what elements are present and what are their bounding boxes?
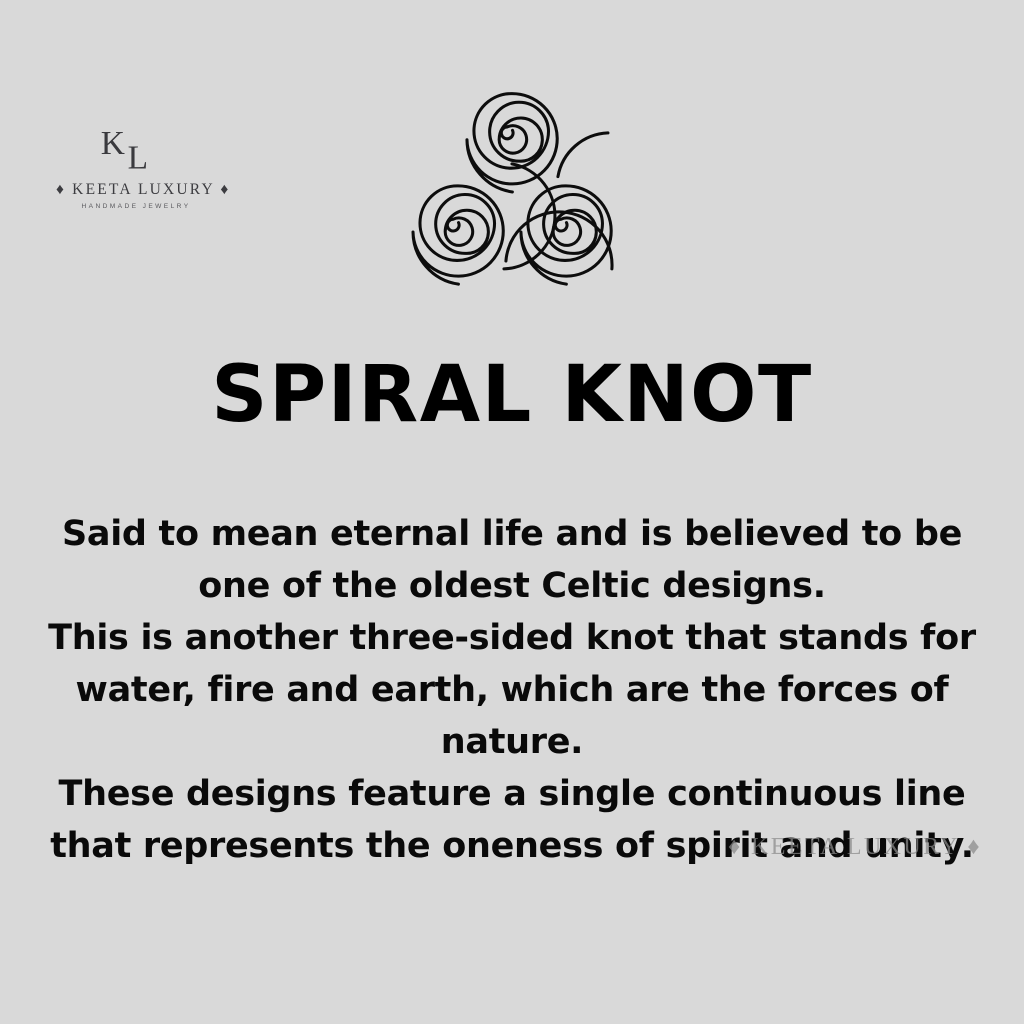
page-title: SPIRAL KNOT bbox=[0, 356, 1024, 434]
body-paragraph-1: Said to mean eternal life and is believe… bbox=[42, 508, 982, 612]
brand-tagline: HANDMADE JEWELRY bbox=[56, 204, 216, 211]
body-copy: Said to mean eternal life and is believe… bbox=[42, 508, 982, 872]
svg-text:K: K bbox=[101, 126, 125, 162]
brand-name: ♦ KEETA LUXURY ♦ bbox=[56, 182, 216, 198]
brand-monogram-icon: K L bbox=[56, 126, 216, 178]
triple-spiral-icon bbox=[380, 44, 645, 304]
body-paragraph-3: These designs feature a single continuou… bbox=[42, 768, 982, 872]
body-paragraph-2: This is another three-sided knot that st… bbox=[42, 612, 982, 768]
poster-canvas: K L ♦ KEETA LUXURY ♦ HANDMADE JEWELRY bbox=[0, 0, 1024, 1024]
brand-logo: K L ♦ KEETA LUXURY ♦ HANDMADE JEWELRY bbox=[56, 126, 216, 210]
svg-text:L: L bbox=[128, 140, 148, 177]
